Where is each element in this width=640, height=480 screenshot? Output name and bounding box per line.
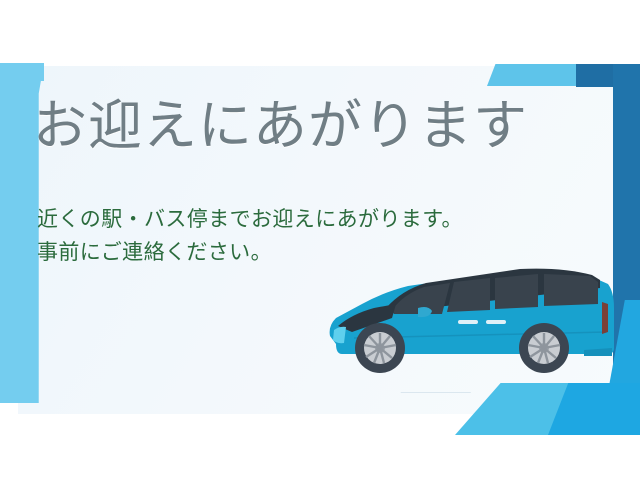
minivan-car-illustration xyxy=(322,252,618,387)
front-wheel xyxy=(355,323,405,373)
top-right-light-accent xyxy=(487,64,581,86)
sliding-door-window xyxy=(495,274,538,309)
taillight xyxy=(602,302,608,334)
front-door-handle xyxy=(458,320,478,324)
promo-banner: お迎えにあがります 近くの駅・バス停までお迎えにあがります。 事前にご連絡くださ… xyxy=(0,0,640,480)
rear-wheel xyxy=(519,323,569,373)
rear-quarter-window xyxy=(544,274,598,306)
rear-door-handle xyxy=(486,320,506,324)
page-title: お迎えにあがります xyxy=(33,98,528,155)
subtitle-line-1: 近くの駅・バス停までお迎えにあがります。 xyxy=(37,203,463,236)
